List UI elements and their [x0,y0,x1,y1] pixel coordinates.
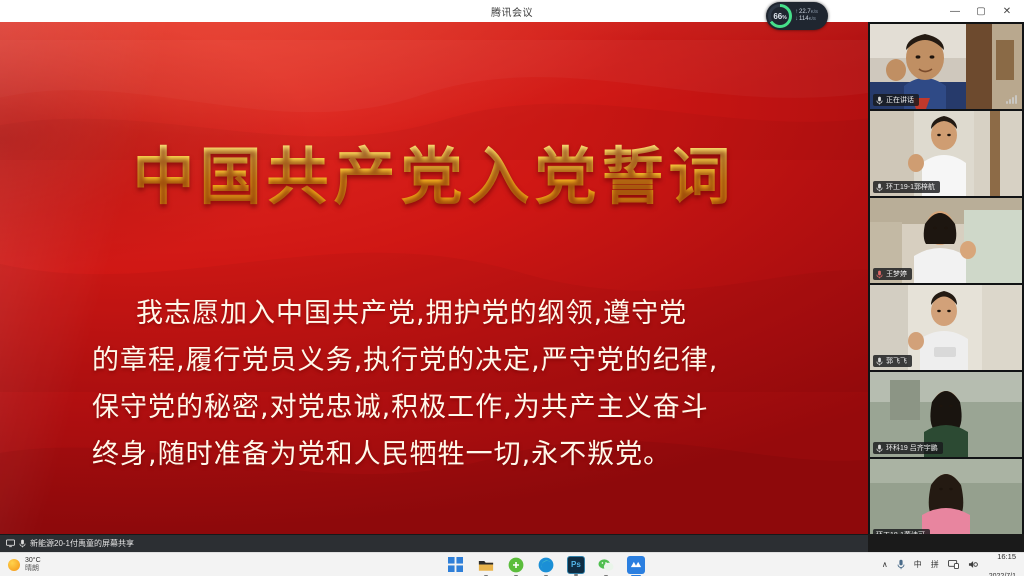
slide-body: 我志愿加入中国共产党,拥护党的纲领,遵守党 的章程,履行党员义务,执行党的决定,… [92,290,776,478]
participant-name: 环工19-1郭梓航 [886,182,935,192]
participant-tile[interactable]: 郭飞飞 [870,285,1022,370]
monitor-icon [6,539,15,548]
file-explorer-icon[interactable] [477,556,495,574]
participant-name-badge: 王梦婷 [873,268,912,280]
microphone-icon [876,96,883,105]
microphone-icon [876,357,883,366]
participant-name-badge: 郭飞飞 [873,355,912,367]
participant-name: 王梦婷 [886,269,907,279]
upload-rate: ↑22.7K/S [795,9,818,17]
participant-tile[interactable]: 环工19-1郭梓航 [870,111,1022,196]
download-arrow-icon: ↓ [795,16,798,22]
start-button[interactable] [447,556,465,574]
participant-name: 正在讲话 [886,95,914,105]
window-controls: — ▢ ✕ [942,0,1020,22]
close-button[interactable]: ✕ [994,0,1020,22]
microphone-icon [19,539,26,548]
video-feed [870,459,1022,534]
participant-name-badge: 环科19 吕齐宇鹏 [873,442,943,454]
slide-body-line: 保守党的秘密,对党忠诚,积极工作,为共产主义奋斗 [92,384,776,431]
taskbar-clock[interactable]: 16:15 2022/7/1 [987,546,1016,576]
taskbar-app-icons: Ps [210,556,882,574]
weather-temperature: 30°C [25,557,41,564]
performance-overlay[interactable]: 66% ↑22.7K/S ↓114K/S [766,2,828,30]
display-settings-icon[interactable] [948,560,959,569]
participant-name: 环工18-1董诗可 [876,530,925,534]
participant-name: 环科19 吕齐宇鹏 [886,443,938,453]
share-status-text: 新能源20-1付禹童的屏幕共享 [30,538,134,549]
weather-widget[interactable]: 30°C 晴朗 [0,557,210,572]
volume-icon[interactable] [968,560,978,569]
participant-tile[interactable]: 环科19 吕齐宇鹏 [870,372,1022,457]
microphone-icon[interactable] [897,559,905,570]
show-hidden-icons-chevron[interactable]: ∧ [882,560,888,569]
slide-body-line: 终身,随时准备为党和人民牺牲一切,永不叛党。 [92,431,776,478]
ime-language-indicator[interactable]: 中 [914,559,922,570]
participant-name-badge: 环工18-1董诗可 [873,529,930,534]
ime-mode-indicator[interactable]: 拼 [931,559,939,570]
wechat-icon[interactable] [597,556,615,574]
download-rate: ↓114K/S [795,16,818,24]
participant-tile[interactable]: 环工18-1董诗可 [870,459,1022,534]
windows-taskbar: 30°C 晴朗 [0,552,1024,576]
tencent-meeting-icon[interactable] [627,556,645,574]
presentation-slide: 中国共产党入党誓词 我志愿加入中国共产党,拥护党的纲领,遵守党 的章程,履行党员… [0,22,868,534]
network-rates: ↑22.7K/S ↓114K/S [795,9,818,24]
participant-name-badge: 正在讲话 [873,94,919,106]
microphone-icon [876,183,883,192]
shared-screen-stage[interactable]: 中国共产党入党誓词 我志愿加入中国共产党,拥护党的纲领,遵守党 的章程,履行党员… [0,22,868,534]
sun-icon [8,559,20,571]
green-app-icon[interactable] [507,556,525,574]
microsoft-edge-icon[interactable] [537,556,555,574]
slide-body-line: 的章程,履行党员义务,执行党的决定,严守党的纪律, [92,337,776,384]
title-bar: 腾讯会议 — ▢ ✕ [0,0,1024,22]
minimize-button[interactable]: — [942,0,968,22]
clock-date: 2022/7/1 [989,573,1016,576]
microphone-icon [876,444,883,453]
cpu-usage-label: 66% [773,12,786,21]
slide-body-line: 我志愿加入中国共产党,拥护党的纲领,遵守党 [92,290,776,337]
cpu-usage-ring: 66% [768,4,792,28]
app-title: 腾讯会议 [0,4,1024,19]
system-tray: ∧ 中 拼 [882,546,1024,576]
adobe-photoshop-icon[interactable]: Ps [567,556,585,574]
weather-description: 晴朗 [25,565,41,572]
upload-arrow-icon: ↑ [795,9,798,15]
tencent-meeting-window: 腾讯会议 — ▢ ✕ 66% ↑22.7K/S ↓114K/S [0,0,1024,576]
participant-tile[interactable]: 王梦婷 [870,198,1022,283]
microphone-icon [876,270,883,279]
participant-name-badge: 环工19-1郭梓航 [873,181,940,193]
slide-title: 中国共产党入党誓词 [0,126,868,216]
maximize-button[interactable]: ▢ [968,0,994,22]
participant-filmstrip[interactable]: 正在讲话 [868,22,1024,534]
clock-time: 16:15 [997,552,1016,561]
screen-share-status-bar: 新能源20-1付禹童的屏幕共享 [0,534,868,552]
photoshop-label: Ps [571,560,581,569]
signal-strength-icon [1006,95,1017,104]
participant-tile[interactable]: 正在讲话 [870,24,1022,109]
participant-name: 郭飞飞 [886,356,907,366]
